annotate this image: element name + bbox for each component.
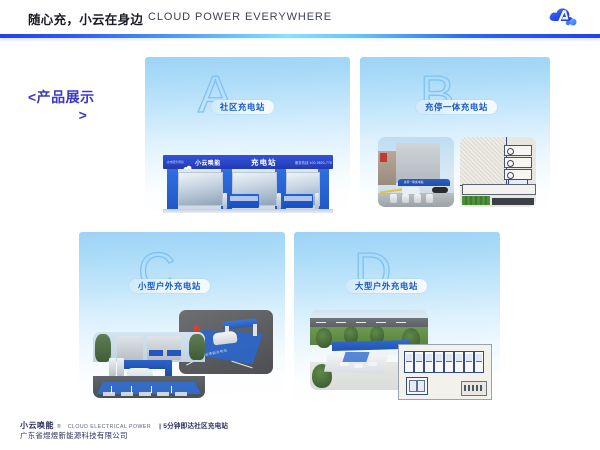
plan-bottom-strip xyxy=(462,184,536,195)
photo-bay-label xyxy=(157,392,169,396)
product-card-d[interactable]: D 大型户外充电站 xyxy=(294,232,500,404)
aerial-road-marking xyxy=(336,322,346,323)
header-divider-shadow xyxy=(0,38,600,40)
product-card-c[interactable]: C 小型户外充电站 小云唤能充电站 xyxy=(79,232,285,404)
photo-bollard xyxy=(390,194,397,203)
section-label-line1: <产品展示 xyxy=(28,88,138,106)
cabinet-breaker-panel xyxy=(461,381,487,396)
plan-hatched-area xyxy=(460,137,507,186)
storefront-brand-cn: 小云唤能 xyxy=(195,158,221,167)
photo-bay-label xyxy=(175,392,187,396)
photo-red-sign xyxy=(380,153,387,162)
footer-tagline: | 5分钟即达社区充电站 xyxy=(159,420,228,430)
aerial-tree xyxy=(344,326,358,344)
photo-car xyxy=(402,187,420,194)
header-title-cn: 随心充，小云在身边 xyxy=(28,9,143,28)
aerial-road-marking xyxy=(396,322,406,323)
card-b-photo-entrance: 充停一体充电站 xyxy=(378,137,454,207)
storefront-charge-pole xyxy=(277,193,281,209)
aerial-road-marking xyxy=(356,322,366,323)
card-c-badge: 小型户外充电站 xyxy=(129,279,210,293)
photo-building xyxy=(396,143,440,183)
plan-unit xyxy=(504,145,532,156)
photo-car xyxy=(432,187,448,193)
cloud-logo-icon xyxy=(548,6,578,28)
photo-bay-label xyxy=(139,392,151,396)
photo-bollard xyxy=(414,194,421,203)
storefront-corner-tag: 充电服务网络 xyxy=(167,160,184,164)
cabinet-low-voltage-unit xyxy=(406,377,428,395)
storefront-kiosk xyxy=(229,194,259,208)
aerial-road-marking xyxy=(316,322,326,323)
page-footer: 小云唤能 ® CLOUD ELECTRICAL POWER | 5分钟即达社区充… xyxy=(0,414,600,450)
cabinet-unit xyxy=(404,351,414,373)
card-b-badge: 充停一体充电站 xyxy=(416,100,497,114)
cabinet-unit xyxy=(454,351,464,373)
storefront-charge-pole xyxy=(315,193,319,209)
photo-shop-sign xyxy=(149,350,163,356)
header-title-en: CLOUD POWER EVERYWHERE xyxy=(148,11,332,23)
plan-greenery xyxy=(462,196,490,205)
photo-shop-sign xyxy=(167,350,181,356)
storefront-charge-pole xyxy=(223,193,227,209)
card-d-badge: 大型户外充电站 xyxy=(346,279,427,293)
aerial-tree xyxy=(316,328,332,348)
aerial-car xyxy=(340,362,349,366)
card-a-photo-storefront: 充电服务网络 小云唤能 充电站 服务热线 400-0800-778 xyxy=(163,155,333,213)
photo-charger xyxy=(109,358,116,376)
photo-bollard xyxy=(402,194,409,203)
card-d-photo-cabinet-plan xyxy=(398,344,492,400)
photo-bollard xyxy=(426,194,433,203)
cabinet-unit xyxy=(424,351,434,373)
cabinet-unit xyxy=(464,351,474,373)
photo-canopy-label: 充停一体充电站 xyxy=(404,180,424,184)
storefront-station-label: 充电站 xyxy=(251,157,277,168)
plan-unit xyxy=(504,157,532,168)
photo-bay-label xyxy=(121,392,133,396)
photo-building xyxy=(147,336,181,360)
card-a-badge: 社区充电站 xyxy=(211,100,274,114)
photo-bay-label xyxy=(103,392,115,396)
photo-bay-arrow xyxy=(171,386,172,393)
render-post xyxy=(253,324,257,336)
photo-tree xyxy=(189,334,205,360)
aerial-charging-bays xyxy=(342,352,369,362)
storefront-logo-icon xyxy=(183,159,192,166)
cabinet-unit xyxy=(444,351,454,373)
cabinet-unit xyxy=(474,351,484,373)
aerial-car xyxy=(368,362,377,366)
cabinet-unit xyxy=(414,351,424,373)
page-header: 随心充，小云在身边 CLOUD POWER EVERYWHERE xyxy=(0,0,600,34)
storefront-ground xyxy=(163,209,333,213)
section-label-line2: > xyxy=(28,106,138,124)
card-b-photo-layout-plan xyxy=(460,137,536,207)
photo-charger xyxy=(117,358,124,376)
cabinet-unit xyxy=(434,351,444,373)
footer-company: 广东省煜煜新能源科技有限公司 xyxy=(20,430,128,441)
aerial-car xyxy=(354,364,363,368)
product-card-b[interactable]: B 充停一体充电站 充停一体充电站 xyxy=(360,57,550,217)
section-label: <产品展示 > xyxy=(28,88,138,124)
storefront-window xyxy=(178,172,223,206)
storefront-kiosk xyxy=(283,194,313,208)
card-c-photo-streetside xyxy=(93,332,205,398)
product-card-a[interactable]: A 社区充电站 充电服务网络 小云唤能 充电站 服务热线 400-0800-77… xyxy=(145,57,350,217)
plan-dark-band xyxy=(492,198,534,205)
photo-bay-arrow xyxy=(151,386,152,393)
aerial-road-marking xyxy=(376,322,386,323)
storefront-hotline: 服务热线 400-0800-778 xyxy=(295,160,332,165)
storefront-pillar xyxy=(167,169,178,209)
